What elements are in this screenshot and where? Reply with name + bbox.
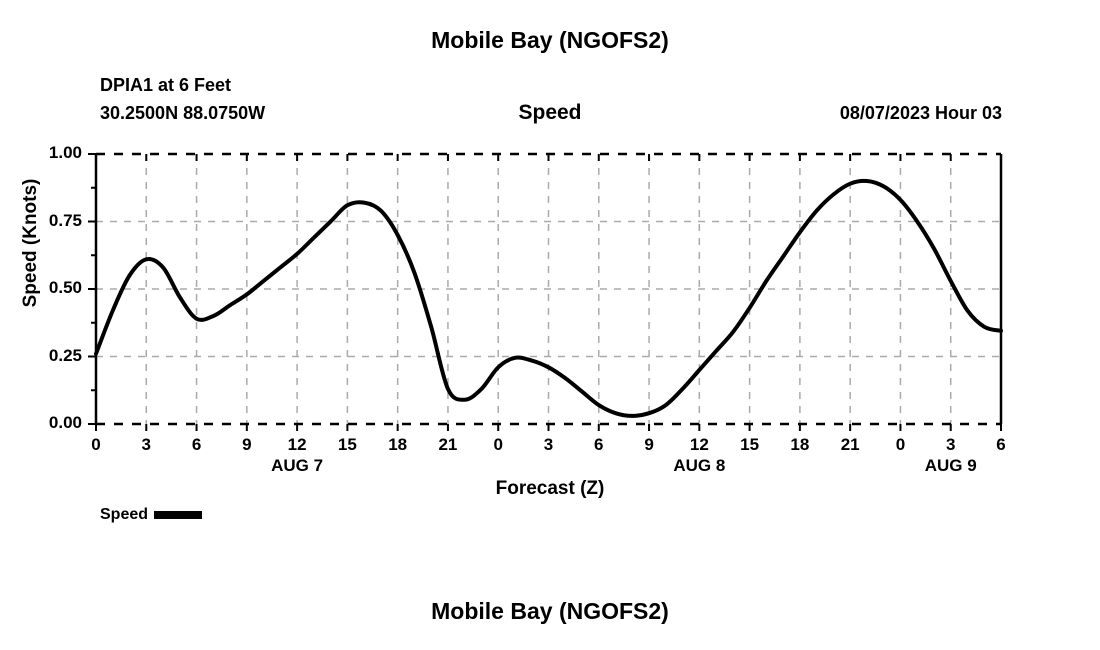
x-tick-label: 0 bbox=[880, 435, 920, 455]
y-tick-label: 0.50 bbox=[22, 278, 82, 298]
x-axis-label: Forecast (Z) bbox=[0, 478, 1100, 500]
station-label: DPIA1 at 6 Feet bbox=[100, 75, 231, 96]
legend-swatch-speed bbox=[154, 511, 202, 519]
x-tick-label: 6 bbox=[579, 435, 619, 455]
day-label: AUG 7 bbox=[237, 456, 357, 476]
chart-gridlines bbox=[96, 154, 1001, 424]
y-tick-label: 0.00 bbox=[22, 413, 82, 433]
y-axis-label: Speed (Knots) bbox=[20, 158, 42, 328]
day-label: AUG 8 bbox=[639, 456, 759, 476]
x-tick-label: 3 bbox=[529, 435, 569, 455]
x-tick-label: 3 bbox=[931, 435, 971, 455]
chart-legend: Speed bbox=[100, 506, 202, 524]
y-tick-label: 1.00 bbox=[22, 143, 82, 163]
x-tick-label: 6 bbox=[177, 435, 217, 455]
x-tick-label: 15 bbox=[730, 435, 770, 455]
x-tick-label: 3 bbox=[126, 435, 166, 455]
x-tick-label: 15 bbox=[327, 435, 367, 455]
x-tick-label: 0 bbox=[478, 435, 518, 455]
y-tick-label: 0.25 bbox=[22, 346, 82, 366]
x-tick-label: 12 bbox=[277, 435, 317, 455]
day-label: AUG 9 bbox=[891, 456, 1011, 476]
x-tick-label: 0 bbox=[76, 435, 116, 455]
legend-label-speed: Speed bbox=[100, 506, 148, 524]
page-title-top: Mobile Bay (NGOFS2) bbox=[0, 27, 1100, 54]
x-tick-label: 18 bbox=[378, 435, 418, 455]
x-tick-label: 12 bbox=[679, 435, 719, 455]
x-tick-label: 9 bbox=[629, 435, 669, 455]
x-tick-label: 21 bbox=[830, 435, 870, 455]
page-title-bottom: Mobile Bay (NGOFS2) bbox=[0, 598, 1100, 625]
model-run-label: 08/07/2023 Hour 03 bbox=[840, 103, 1002, 124]
forecast-chart bbox=[0, 0, 1100, 650]
x-tick-label: 6 bbox=[981, 435, 1021, 455]
x-tick-label: 21 bbox=[428, 435, 468, 455]
x-tick-label: 9 bbox=[227, 435, 267, 455]
y-tick-label: 0.75 bbox=[22, 211, 82, 231]
chart-ticks bbox=[88, 154, 1001, 431]
x-tick-label: 18 bbox=[780, 435, 820, 455]
